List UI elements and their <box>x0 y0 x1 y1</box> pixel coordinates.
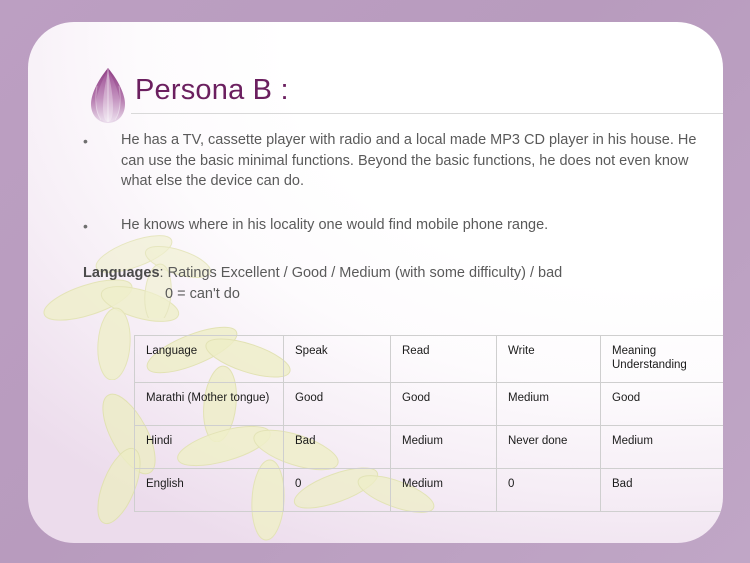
languages-rating-scale: : Ratings Excellent / Good / Medium (wit… <box>160 265 563 281</box>
cell-write: Never done <box>497 426 601 469</box>
table-row: Hindi Bad Medium Never done Medium <box>135 426 724 469</box>
cell-write: 0 <box>497 469 601 512</box>
cell-write: Medium <box>497 383 601 426</box>
cell-meaning: Medium <box>601 426 724 469</box>
title-divider <box>131 113 723 114</box>
bullet-text: He knows where in his locality one would… <box>121 215 703 236</box>
tulip-logo-icon <box>82 66 134 124</box>
column-header-write: Write <box>497 336 601 383</box>
table-row: Marathi (Mother tongue) Good Good Medium… <box>135 383 724 426</box>
page-title: Persona B : <box>135 74 289 107</box>
bullet-item: • He knows where in his locality one wou… <box>83 215 703 236</box>
table-header-row: Language Speak Read Write Meaning Unders… <box>135 336 724 383</box>
cell-language: English <box>135 469 284 512</box>
column-header-language: Language <box>135 336 284 383</box>
bullet-marker-icon: • <box>83 216 97 237</box>
table-row: English 0 Medium 0 Bad <box>135 469 724 512</box>
cell-language: Hindi <box>135 426 284 469</box>
languages-rating-note: Languages: Ratings Excellent / Good / Me… <box>83 263 713 305</box>
bullet-text: He has a TV, cassette player with radio … <box>121 130 703 192</box>
bullet-item: • He has a TV, cassette player with radi… <box>83 130 703 192</box>
column-header-speak: Speak <box>284 336 391 383</box>
cell-language: Marathi (Mother tongue) <box>135 383 284 426</box>
cell-meaning: Bad <box>601 469 724 512</box>
cell-meaning: Good <box>601 383 724 426</box>
cell-speak: Bad <box>284 426 391 469</box>
languages-zero-definition: 0 = can't do <box>165 284 713 305</box>
column-header-read: Read <box>391 336 497 383</box>
cell-read: Good <box>391 383 497 426</box>
cell-speak: Good <box>284 383 391 426</box>
presentation-slide: Persona B : • He has a TV, cassette play… <box>0 0 750 563</box>
slide-content-panel: Persona B : • He has a TV, cassette play… <box>28 22 723 543</box>
cell-read: Medium <box>391 469 497 512</box>
column-header-meaning-understanding: Meaning Understanding <box>601 336 724 383</box>
cell-speak: 0 <box>284 469 391 512</box>
cell-read: Medium <box>391 426 497 469</box>
bullet-marker-icon: • <box>83 131 97 152</box>
languages-label: Languages <box>83 265 160 281</box>
language-proficiency-table: Language Speak Read Write Meaning Unders… <box>134 335 723 512</box>
